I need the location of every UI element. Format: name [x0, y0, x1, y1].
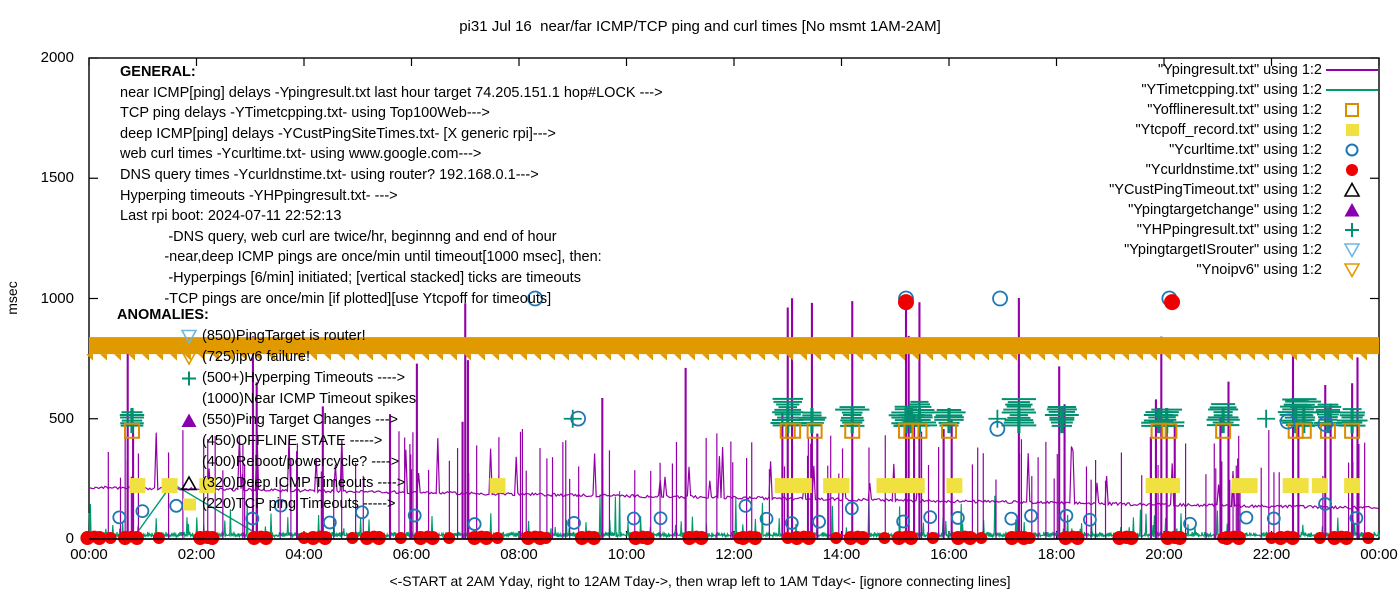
x-tick-label: 20:00 [1124, 546, 1204, 563]
anomaly-row: (400)Reboot/powercycle? ----> [117, 452, 209, 473]
tcpoff-marker [1344, 478, 1360, 493]
x-tick-label: 04:00 [264, 546, 344, 563]
tcpoff-marker [877, 478, 893, 493]
legend-entry: "YpingtargetISrouter" using 1:2 [1030, 240, 1380, 260]
anomaly-label: (400)Reboot/powercycle? ----> [202, 452, 399, 473]
curldns-marker [1024, 532, 1036, 544]
curltime-marker [469, 518, 481, 530]
general-line: TCP ping delays -YTimetcpping.txt- using… [120, 103, 663, 124]
legend-label: "YCustPingTimeout.txt" using 1:2 [1109, 180, 1322, 200]
curldns-marker [346, 532, 358, 544]
general-line: -Hyperpings [6/min] initiated; [vertical… [120, 268, 663, 289]
legend-label: "Ycurldnstime.txt" using 1:2 [1146, 160, 1322, 180]
general-annotation-block: GENERAL:near ICMP[ping] delays -Ypingres… [120, 62, 663, 309]
legend-label: "Ytcpoff_record.txt" using 1:2 [1135, 120, 1322, 140]
anomaly-marker-icon [179, 326, 199, 347]
anomalies-header: ANOMALIES: [117, 305, 209, 326]
curldns-marker [782, 532, 794, 544]
chart-title: pi31 Jul 16 near/far ICMP/TCP ping and c… [0, 18, 1400, 35]
anomaly-label: (500+)Hyperping Timeouts ----> [202, 368, 405, 389]
curltime-marker [993, 292, 1007, 306]
curltime-marker [813, 516, 825, 528]
curldns-marker [314, 531, 326, 543]
anomaly-row: (220)TCP ping Timeouts -----> [117, 494, 209, 515]
curldns-marker [395, 532, 407, 544]
legend-label: "YTimetcpping.txt" using 1:2 [1141, 80, 1322, 100]
legend-entry: "Ynoipv6" using 1:2 [1030, 260, 1380, 280]
curldns-marker [830, 532, 842, 544]
x-tick-label: 06:00 [372, 546, 452, 563]
tcpoff-marker [1164, 478, 1180, 493]
x-tick-label: 16:00 [909, 546, 989, 563]
legend-label: "Yofflineresult.txt" using 1:2 [1147, 100, 1322, 120]
curldns-marker [368, 531, 380, 543]
legend-marker-icon [1324, 160, 1380, 180]
curldns-marker [1013, 531, 1025, 543]
curldns-marker [685, 532, 697, 544]
curldns-marker [443, 532, 455, 544]
x-tick-label: 00:00 [1339, 546, 1400, 563]
anomaly-row: (725)ipv6 failure! [117, 347, 209, 368]
curldns-marker [1164, 294, 1180, 310]
curldns-marker [201, 532, 213, 544]
curldns-marker [1120, 532, 1132, 544]
curldns-marker [927, 532, 939, 544]
anomaly-marker-icon [179, 368, 199, 389]
legend-entry: "YTimetcpping.txt" using 1:2 [1030, 80, 1380, 100]
curldns-marker [1314, 532, 1326, 544]
general-line: near ICMP[ping] delays -Ypingresult.txt … [120, 83, 663, 104]
tcpoff-marker [1312, 478, 1328, 493]
anomaly-marker-icon [179, 473, 199, 494]
curldns-marker [1362, 532, 1374, 544]
curldns-marker [1282, 531, 1294, 543]
anomaly-row: (500+)Hyperping Timeouts ----> [117, 368, 209, 389]
anomaly-row: (320)Deep ICMP Timeouts ----> [117, 473, 209, 494]
anomaly-marker-icon [179, 494, 199, 515]
curldns-marker [637, 532, 649, 544]
curldns-marker [1266, 532, 1278, 544]
general-line: -DNS query, web curl are twice/hr, begin… [120, 227, 663, 248]
y-tick-label: 2000 [12, 49, 74, 66]
legend-marker-icon [1324, 260, 1380, 280]
anomaly-label: (1000)Near ICMP Timeout spikes [202, 389, 416, 410]
anomaly-marker-icon [179, 347, 199, 368]
anomaly-label: (450)OFFLINE STATE -----> [202, 431, 382, 452]
legend-entry: "Ypingresult.txt" using 1:2 [1030, 60, 1380, 80]
curltime-marker [1005, 513, 1017, 525]
x-tick-label: 02:00 [157, 546, 237, 563]
curldns-marker [540, 532, 552, 544]
legend-marker-icon [1324, 120, 1380, 140]
legend-marker-icon [1324, 180, 1380, 200]
curldns-marker [492, 532, 504, 544]
tcpoff-marker [1232, 478, 1258, 493]
x-tick-label: 18:00 [1017, 546, 1097, 563]
curldns-marker [126, 531, 138, 543]
x-tick-label: 22:00 [1232, 546, 1312, 563]
curldns-marker [1217, 532, 1229, 544]
curldns-marker [105, 532, 117, 544]
curltime-marker [740, 500, 752, 512]
general-line: Last rpi boot: 2024-07-11 22:52:13 [120, 206, 663, 227]
curldns-marker [1072, 532, 1084, 544]
curldns-marker [898, 294, 914, 310]
legend-marker-icon [1324, 200, 1380, 220]
anomaly-label: (550)Ping Target Changes ---> [202, 410, 398, 431]
curldns-marker [975, 532, 987, 544]
anomaly-label: (320)Deep ICMP Timeouts ----> [202, 473, 405, 494]
legend-marker-icon [1324, 220, 1380, 240]
legend-marker-icon [1324, 80, 1380, 100]
x-axis-label: <-START at 2AM Yday, right to 12AM Tday-… [0, 573, 1400, 589]
anomaly-label: (725)ipv6 failure! [202, 347, 310, 368]
general-line: deep ICMP[ping] delays -YCustPingSiteTim… [120, 124, 663, 145]
curldns-marker [88, 531, 100, 543]
legend-marker-icon [1324, 240, 1380, 260]
tcpoff-marker [946, 478, 962, 493]
curldns-marker [733, 532, 745, 544]
general-line: DNS query times -Ycurldnstime.txt- using… [120, 165, 663, 186]
curldns-marker [1169, 532, 1181, 544]
legend-entry: "YHPpingresult.txt" using 1:2 [1030, 220, 1380, 240]
tcpoff-marker [909, 478, 925, 493]
anomaly-row: (550)Ping Target Changes ---> [117, 410, 209, 431]
legend-marker-icon [1324, 100, 1380, 120]
legend-label: "Ypingresult.txt" using 1:2 [1158, 60, 1322, 80]
y-tick-label: 0 [12, 530, 74, 547]
legend-label: "YpingtargetISrouter" using 1:2 [1124, 240, 1322, 260]
curltime-marker [952, 512, 964, 524]
curltime-marker [1060, 510, 1072, 522]
x-tick-label: 10:00 [587, 546, 667, 563]
y-tick-label: 1000 [12, 290, 74, 307]
chart-legend: "Ypingresult.txt" using 1:2"YTimetcpping… [1030, 60, 1380, 280]
curldns-marker [422, 531, 434, 543]
curldns-marker [1228, 531, 1240, 543]
anomaly-label: (850)PingTarget is router! [202, 326, 366, 347]
legend-label: "Ycurltime.txt" using 1:2 [1169, 140, 1322, 160]
tcpoff-marker [1283, 478, 1309, 493]
anomaly-row: (1000)Near ICMP Timeout spikes [117, 389, 209, 410]
general-line: -near,deep ICMP pings are once/min until… [120, 247, 663, 268]
curldns-marker [852, 531, 864, 543]
curltime-marker [1025, 510, 1037, 522]
x-tick-label: 14:00 [802, 546, 882, 563]
anomaly-marker-icon [179, 410, 199, 431]
tcpoff-marker [796, 478, 812, 493]
curltime-marker [1240, 512, 1252, 524]
legend-entry: "Ycurltime.txt" using 1:2 [1030, 140, 1380, 160]
general-header: GENERAL: [120, 62, 663, 83]
y-tick-label: 1500 [12, 169, 74, 186]
chart-page: pi31 Jul 16 near/far ICMP/TCP ping and c… [0, 0, 1400, 600]
legend-entry: "Ycurldnstime.txt" using 1:2 [1030, 160, 1380, 180]
curldns-marker [153, 532, 165, 544]
legend-label: "Ypingtargetchange" using 1:2 [1128, 200, 1322, 220]
curldns-marker [298, 532, 310, 544]
tcpoff-marker [834, 478, 850, 493]
legend-entry: "YCustPingTimeout.txt" using 1:2 [1030, 180, 1380, 200]
tcpoff-marker [490, 478, 506, 493]
anomaly-label: (220)TCP ping Timeouts -----> [202, 494, 396, 515]
curldns-marker [744, 531, 756, 543]
curltime-marker [924, 511, 936, 523]
curldns-marker [1335, 531, 1347, 543]
anomaly-row: (450)OFFLINE STATE -----> [117, 431, 209, 452]
general-line: web curl times -Ycurltime.txt- using www… [120, 144, 663, 165]
curldns-marker [475, 531, 487, 543]
general-line: Hyperping timeouts -YHPpingresult.txt- -… [120, 186, 663, 207]
legend-label: "YHPpingresult.txt" using 1:2 [1137, 220, 1322, 240]
curldns-marker [529, 531, 541, 543]
x-tick-label: 00:00 [49, 546, 129, 563]
legend-entry: "Yofflineresult.txt" using 1:2 [1030, 100, 1380, 120]
x-tick-label: 12:00 [694, 546, 774, 563]
legend-entry: "Ytcpoff_record.txt" using 1:2 [1030, 120, 1380, 140]
legend-label: "Ynoipv6" using 1:2 [1196, 260, 1322, 280]
curldns-marker [959, 531, 971, 543]
x-tick-label: 08:00 [479, 546, 559, 563]
legend-entry: "Ypingtargetchange" using 1:2 [1030, 200, 1380, 220]
anomalies-annotation-block: ANOMALIES:(850)PingTarget is router!(725… [117, 305, 209, 515]
curldns-marker [250, 532, 262, 544]
y-tick-label: 500 [12, 410, 74, 427]
anomaly-row: (850)PingTarget is router! [117, 326, 209, 347]
curldns-marker [798, 531, 810, 543]
legend-marker-icon [1324, 60, 1380, 80]
legend-marker-icon [1324, 140, 1380, 160]
curltime-marker [628, 512, 640, 524]
curltime-marker [1084, 514, 1096, 526]
curldns-marker [588, 532, 600, 544]
curldns-marker [900, 531, 912, 543]
curldns-marker [879, 532, 891, 544]
